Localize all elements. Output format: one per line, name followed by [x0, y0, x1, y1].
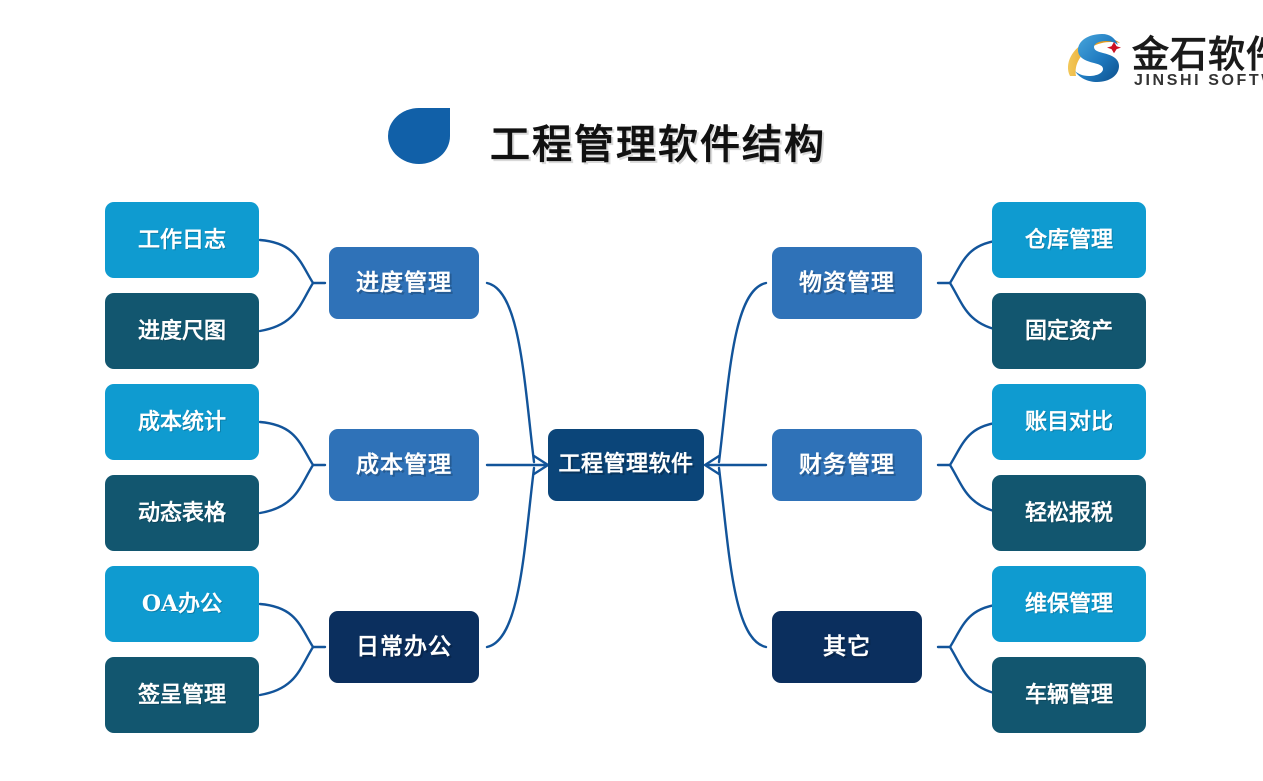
leaf-node[interactable]: 车辆管理 [992, 657, 1146, 733]
branch-node[interactable]: 成本管理 [329, 429, 479, 501]
leaf-node[interactable]: 轻松报税 [992, 475, 1146, 551]
branch-node[interactable]: 财务管理 [772, 429, 922, 501]
leaf-node[interactable]: 动态表格 [105, 475, 259, 551]
big-brace-left-bottom [487, 468, 534, 647]
branch-node[interactable]: 进度管理 [329, 247, 479, 319]
leaf-node[interactable]: 进度尺图 [105, 293, 259, 369]
brace-left-2 [260, 422, 313, 513]
leaf-node[interactable]: 成本统计 [105, 384, 259, 460]
big-brace-right-top [719, 283, 766, 462]
big-brace-left-top [487, 283, 534, 462]
leaf-node[interactable]: 工作日志 [105, 202, 259, 278]
branch-node[interactable]: 物资管理 [772, 247, 922, 319]
branch-node[interactable]: 日常办公 [329, 611, 479, 683]
branch-node[interactable]: 其它 [772, 611, 922, 683]
brace-left-1 [260, 240, 313, 331]
leaf-node[interactable]: 固定资产 [992, 293, 1146, 369]
big-brace-right-bottom [719, 468, 766, 647]
brace-left-3 [260, 604, 313, 695]
center-node[interactable]: 工程管理软件 [548, 429, 704, 501]
leaf-node[interactable]: 账目对比 [992, 384, 1146, 460]
leaf-node[interactable]: OA办公 [105, 566, 259, 642]
leaf-node[interactable]: 仓库管理 [992, 202, 1146, 278]
leaf-node[interactable]: 维保管理 [992, 566, 1146, 642]
leaf-node[interactable]: 签呈管理 [105, 657, 259, 733]
